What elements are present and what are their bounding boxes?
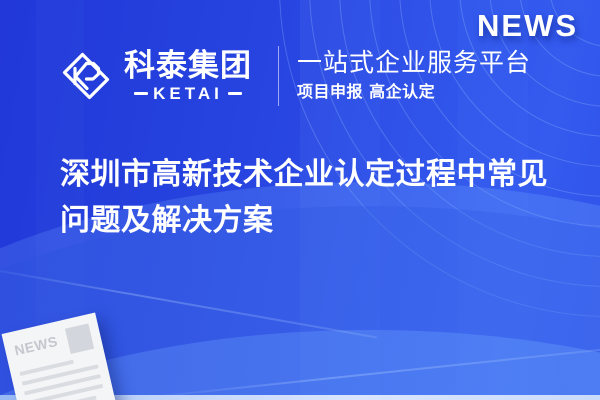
dash-right-icon: [228, 92, 242, 95]
slogan-group: 一站式企业服务平台 项目申报 高企认定: [297, 48, 531, 104]
logo-name-en: KETAI: [153, 85, 223, 102]
brand-header: 科泰集团 KETAI 一站式企业服务平台 项目申报 高企认定: [60, 40, 531, 112]
newspaper-card-title: NEWS: [12, 331, 59, 357]
dash-left-icon: [134, 92, 148, 95]
news-label: NEWS: [477, 8, 578, 44]
news-banner: NEWS 科泰集团 KETAI: [0, 0, 600, 400]
logo-name-en-row: KETAI: [134, 85, 242, 102]
header-divider: [278, 46, 279, 106]
newspaper-thumbnail-icon: [65, 323, 94, 354]
slogan-main: 一站式企业服务平台: [297, 48, 531, 78]
ketai-logo-icon[interactable]: [60, 50, 112, 102]
logo-wordmark: 科泰集团 KETAI: [124, 50, 252, 102]
newspaper-card-top: NEWS: [12, 323, 94, 366]
logo-name-cn: 科泰集团: [124, 50, 252, 83]
slogan-sub: 项目申报 高企认定: [297, 80, 531, 104]
headline-title: 深圳市高新技术企业认定过程中常见问题及解决方案: [60, 152, 570, 243]
